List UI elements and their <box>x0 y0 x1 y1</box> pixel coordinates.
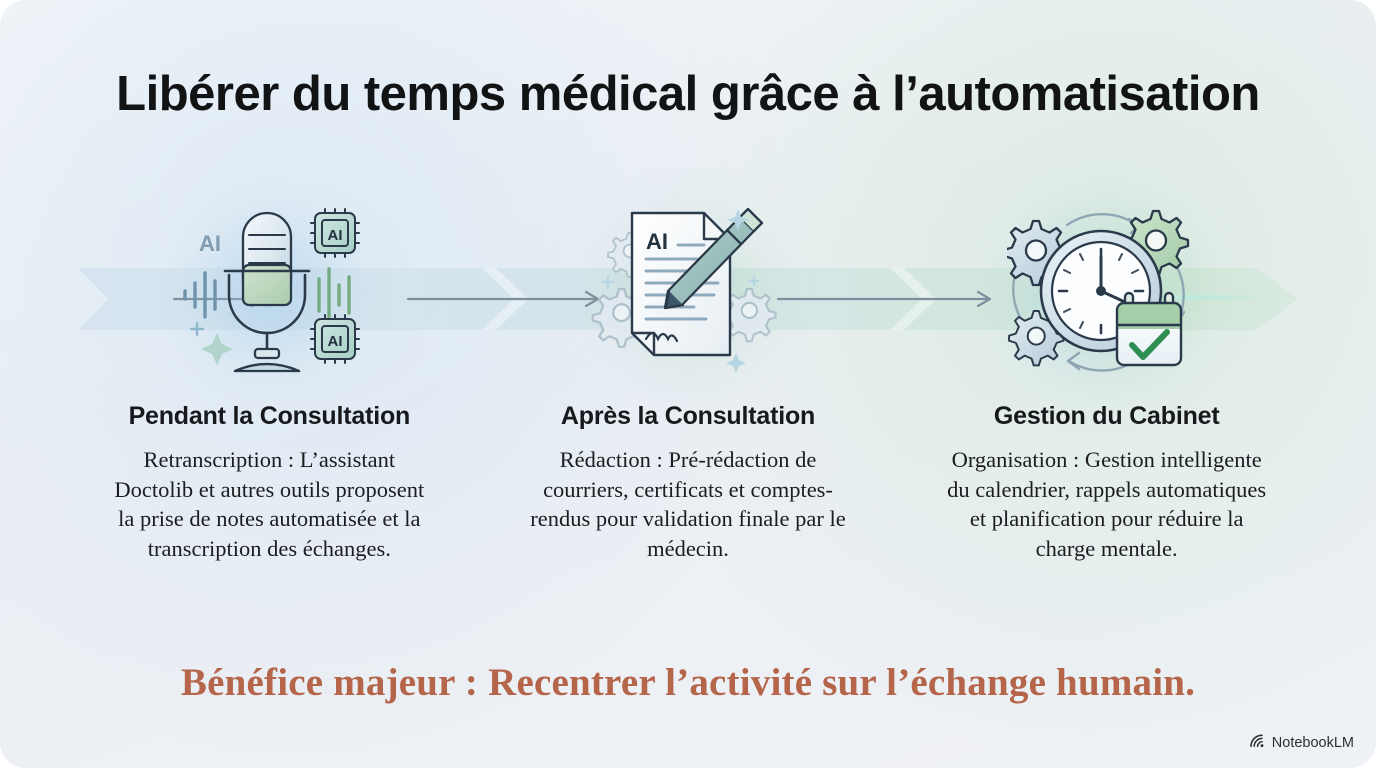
svg-text:AI: AI <box>199 231 221 256</box>
column-heading: Gestion du Cabinet <box>994 402 1220 431</box>
svg-text:AI: AI <box>646 229 668 254</box>
column-practice-management: Gestion du Cabinet Organisation : Gestio… <box>897 196 1316 563</box>
page-title: Libérer du temps médical grâce à l’autom… <box>0 66 1376 122</box>
columns-row: AI AI <box>60 196 1316 563</box>
column-heading: Pendant la Consultation <box>129 402 411 431</box>
column-heading: Après la Consultation <box>561 402 815 431</box>
notebooklm-watermark: NotebookLM <box>1249 733 1354 752</box>
notebooklm-logo-icon <box>1249 733 1266 752</box>
svg-text:AI: AI <box>328 227 343 244</box>
infographic-card: Libérer du temps médical grâce à l’autom… <box>0 0 1376 768</box>
column-body: Retranscription : L’assistant Doctolib e… <box>109 445 429 563</box>
column-body: Rédaction : Pré-rédaction de courriers, … <box>528 445 848 563</box>
column-during-consultation: AI AI <box>60 196 479 563</box>
watermark-label: NotebookLM <box>1272 735 1354 751</box>
svg-text:AI: AI <box>328 333 343 350</box>
benefit-text: Bénéfice majeur : Recentrer l’activité s… <box>181 661 1195 704</box>
column-after-consultation: AI <box>479 196 898 563</box>
document-pen-ai-icon: AI <box>588 196 788 386</box>
column-body: Organisation : Gestion intelligente du c… <box>947 445 1267 563</box>
clock-gears-calendar-icon <box>1007 196 1207 386</box>
benefit-statement: Bénéfice majeur : Recentrer l’activité s… <box>0 660 1376 705</box>
microphone-ai-icon: AI AI <box>169 196 369 386</box>
